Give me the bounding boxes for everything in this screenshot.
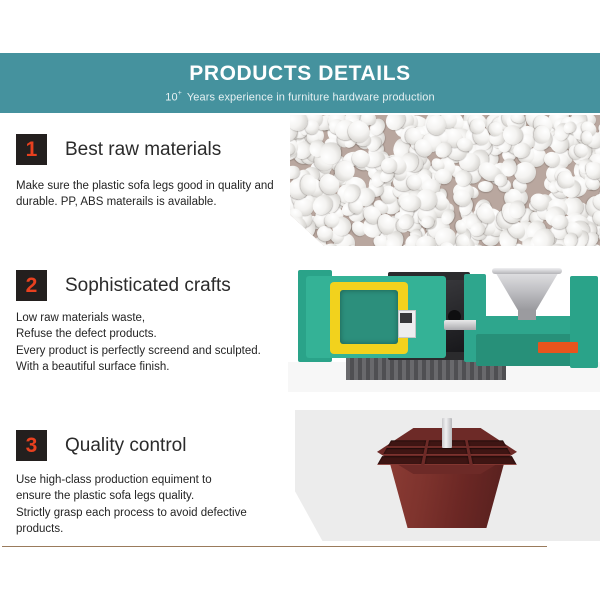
machine-window	[340, 290, 398, 344]
section-3-title: Quality control	[65, 436, 186, 455]
machine-screen	[400, 313, 412, 323]
section-1-body-text: Make sure the plastic sofa legs good in …	[16, 178, 302, 211]
pellet-field	[290, 115, 600, 246]
section-2-body-text: Low raw materials waste, Refuse the defe…	[16, 310, 302, 375]
section-3-number-badge: 3	[16, 430, 47, 461]
section-quality-control: 3 Quality control Use high-class product…	[0, 429, 300, 537]
section-1-number-badge: 1	[16, 134, 47, 165]
sofa-leg-cell	[388, 440, 427, 446]
sofa-leg-cell	[469, 448, 511, 455]
section-2-title: Sophisticated crafts	[65, 276, 231, 295]
machine-hopper-rim	[492, 268, 562, 274]
pellet	[290, 231, 291, 245]
sofa-leg-cell	[467, 440, 506, 446]
plus-superscript: +	[178, 90, 184, 97]
page-title: PRODUCTS DETAILS	[189, 63, 411, 84]
pellet	[296, 236, 317, 246]
machine-model-label	[538, 342, 578, 353]
section-2-number-badge: 2	[16, 270, 47, 301]
experience-years: 10	[165, 91, 177, 103]
section-best-raw-materials: 1 Best raw materials Make sure the plast…	[0, 133, 300, 211]
sofa-leg-cell	[378, 456, 424, 464]
pellet	[290, 221, 292, 236]
pellet	[416, 235, 437, 246]
pellet	[534, 125, 551, 143]
sofa-leg-cell	[425, 456, 469, 464]
machine-hopper	[494, 270, 560, 310]
section-3-heading: 3 Quality control	[16, 429, 300, 461]
page-header-banner: PRODUCTS DETAILS 10+ Years experience in…	[0, 53, 600, 113]
machine-clamp-right	[570, 276, 598, 368]
sofa-leg-cell	[471, 456, 517, 464]
pellet	[477, 180, 493, 192]
subtitle-text: Years experience in furniture hardware p…	[187, 91, 435, 103]
pellet	[290, 224, 302, 243]
section-sophisticated-crafts: 2 Sophisticated crafts Low raw materials…	[0, 269, 300, 375]
sofa-leg-cell	[383, 448, 425, 455]
sofa-leg	[367, 424, 527, 536]
sofa-leg-screw	[442, 418, 452, 448]
injection-molding-machine-photo	[288, 258, 600, 392]
sofa-leg-product-photo	[295, 410, 600, 541]
section-3-body-text: Use high-class production equiment to en…	[16, 472, 302, 537]
sofa-leg-cell	[427, 448, 468, 455]
product-details-page: PRODUCTS DETAILS 10+ Years experience in…	[0, 0, 600, 600]
section-1-title: Best raw materials	[65, 140, 221, 159]
section-2-heading: 2 Sophisticated crafts	[16, 269, 300, 301]
plastic-pellets-photo	[290, 115, 600, 246]
pellet	[381, 158, 397, 173]
section-1-heading: 1 Best raw materials	[16, 133, 300, 165]
bottom-divider-rule	[2, 546, 547, 547]
page-subtitle: 10+ Years experience in furniture hardwa…	[165, 91, 434, 104]
